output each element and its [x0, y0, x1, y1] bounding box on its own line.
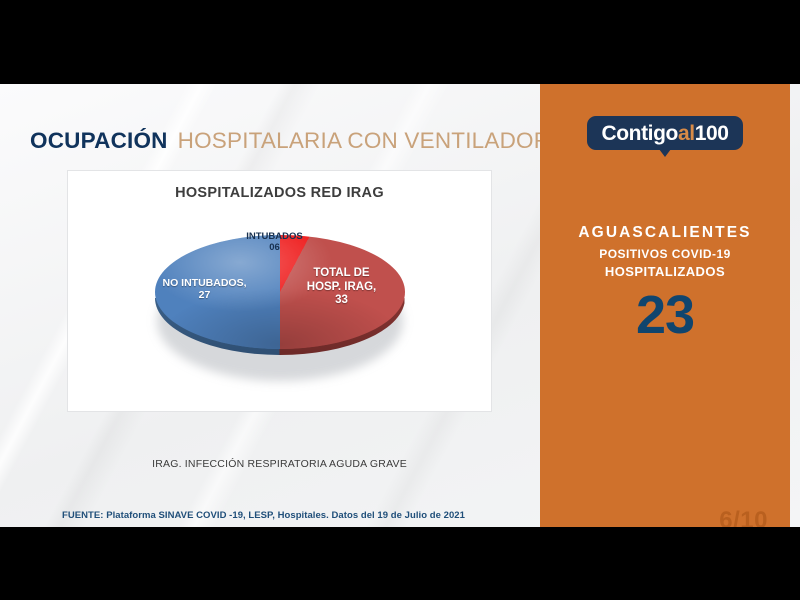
chart-container: HOSPITALIZADOS RED IRAG NO INTUBADOS, 27…: [67, 170, 492, 412]
contigo-al-100-logo: Contigoal100: [587, 116, 743, 150]
sidebar-metric-value: 23: [540, 288, 790, 342]
pie-label-intubados-text: INTUBADOS: [229, 231, 321, 242]
logo-text-100: 100: [695, 123, 729, 144]
pie-label-total-line2: HOSP. IRAG,: [291, 281, 393, 295]
page-title-light: HOSPITALARIA CON VENTILADOR: [178, 128, 551, 154]
pie-chart: NO INTUBADOS, 27 INTUBADOS 06 TOTAL DE H…: [151, 217, 409, 397]
pie-label-intubados: INTUBADOS 06: [229, 231, 321, 253]
chart-footnote: IRAG. INFECCIÓN RESPIRATORIA AGUDA GRAVE: [67, 458, 492, 470]
sidebar-panel: Contigoal100 AGUASCALIENTES POSITIVOS CO…: [540, 84, 790, 527]
chart-title: HOSPITALIZADOS RED IRAG: [68, 185, 491, 201]
logo-text-al: al: [678, 123, 695, 144]
pie-label-no-intubados-value: 27: [153, 289, 257, 301]
pie-label-no-intubados-text: NO INTUBADOS,: [153, 277, 257, 289]
presentation-slide: OCUPACIÓN HOSPITALARIA CON VENTILADOR: [0, 84, 800, 527]
pie-label-no-intubados: NO INTUBADOS, 27: [153, 277, 257, 302]
sidebar-state-name: AGUASCALIENTES: [540, 224, 790, 242]
pie-label-intubados-value: 06: [229, 242, 321, 253]
slide-header: OCUPACIÓN HOSPITALARIA CON VENTILADOR: [30, 122, 602, 159]
sidebar-metric-line1: POSITIVOS COVID-19: [540, 247, 790, 261]
letterboxed-stage: OCUPACIÓN HOSPITALARIA CON VENTILADOR: [0, 0, 800, 600]
page-indicator: 6/10: [719, 507, 768, 527]
pie-label-total-line1: TOTAL DE: [291, 267, 393, 281]
pie-label-total-value: 33: [291, 294, 393, 308]
pie-label-total: TOTAL DE HOSP. IRAG, 33: [291, 267, 393, 308]
logo-text-contigo: Contigo: [601, 123, 678, 144]
source-citation: FUENTE: Plataforma SINAVE COVID -19, LES…: [62, 510, 465, 521]
page-title-strong: OCUPACIÓN: [30, 128, 168, 154]
sidebar-metric-line2: HOSPITALIZADOS: [540, 264, 790, 279]
